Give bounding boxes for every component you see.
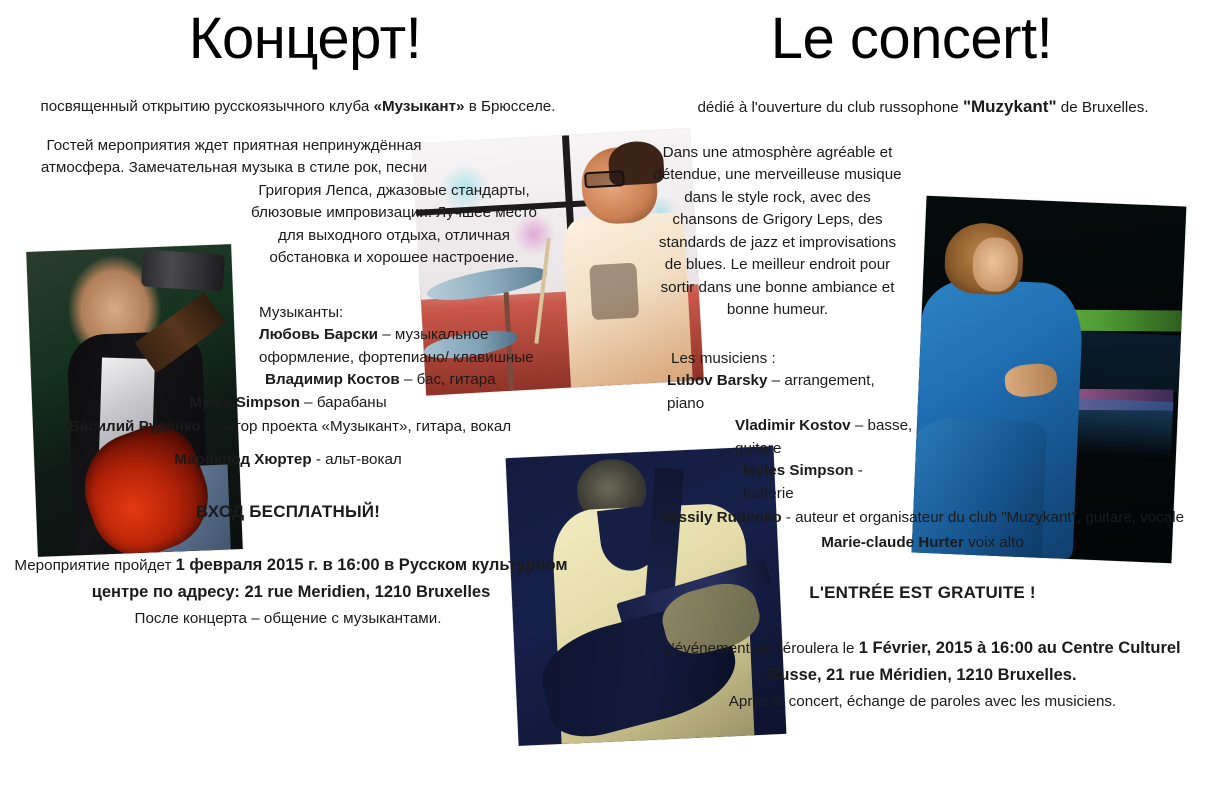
russian-text-column: посвященный открытию русскоязычного клуб…: [8, 96, 588, 630]
ru-intro-paragraph-2: Григория Лепса, джазовые стандарты, блюз…: [244, 180, 544, 270]
ru-subtitle-pre: посвященный открытию русскоязычного клуб…: [41, 98, 374, 115]
ru-intro-text: Гостей мероприятия ждет приятная неприну…: [41, 137, 427, 177]
ru-intro-paragraph: Гостей мероприятия ждет приятная неприну…: [14, 135, 454, 180]
fr-musician-5-name: Marie-claude Hurter: [821, 534, 964, 551]
drummer-shirt-logo-shape: [589, 263, 639, 321]
ru-musician-5-name: Мариклод Хюртер: [174, 451, 311, 468]
fr-musician-3: Myles Simpson - batterie: [665, 460, 915, 505]
ru-event-pre: Мероприятие пройдет: [14, 557, 175, 574]
ru-after-concert: После концерта – общение с музыкантами.: [8, 608, 568, 631]
ru-musician-3-role: – барабаны: [300, 394, 387, 411]
ru-musicians-block: Музыканты: Любовь Барски – музыкальное о…: [253, 302, 563, 392]
fr-musician-5-role: voix alto: [964, 534, 1024, 551]
ru-subtitle: посвященный открытию русскоязычного клуб…: [28, 96, 568, 119]
ru-musician-1-name: Любовь Барски: [259, 326, 378, 343]
fr-event-details: L'événement se déroulera le 1 Février, 2…: [642, 635, 1202, 689]
fr-subtitle: dédié à l'ouverture du club russophone "…: [643, 96, 1203, 120]
fr-musician-3-name: Myles Simpson: [743, 462, 854, 479]
fr-event-pre: L'événement se déroulera le: [663, 640, 858, 657]
ru-musician-1: Любовь Барски – музыкальное оформление, …: [253, 324, 563, 369]
ru-musician-2: Владимир Костов – бас, гитара: [253, 369, 563, 392]
ru-subtitle-post: в Брюсселе.: [465, 98, 556, 115]
fr-musician-5: Marie-claude Hurter voix alto: [650, 532, 1195, 555]
ru-musician-2-name: Владимир Костов: [265, 371, 404, 388]
french-text-column: dédié à l'ouverture du club russophone "…: [640, 96, 1206, 713]
fr-musician-2: Vladimir Kostov – basse, guitare: [665, 415, 915, 460]
title-french: Le concert!: [610, 8, 1213, 70]
fr-musician-4-role: - auteur et organisateur du club "Muzyka…: [782, 509, 1185, 526]
title-russian: Концерт!: [0, 8, 610, 70]
ru-musician-2-role: – бас, гитара: [404, 371, 496, 388]
fr-musician-2-name: Vladimir Kostov: [735, 417, 851, 434]
ru-musician-5: Мариклод Хюртер - альт-вокал: [8, 449, 568, 472]
concert-poster: Концерт! Le concert!: [0, 0, 1213, 798]
ru-musician-5-role: - альт-вокал: [312, 451, 402, 468]
ru-musician-4: Василий Руденко – автор проекта «Музыкан…: [0, 416, 580, 439]
ru-musician-3-name: Myles Simpson: [189, 394, 300, 411]
fr-free-entry: L'ENTRÉE EST GRATUITE !: [650, 582, 1195, 605]
ru-event-details: Мероприятие пройдет 1 февраля 2015 г. в …: [6, 552, 576, 606]
fr-musicians-heading: Les musiciens :: [665, 348, 915, 371]
fr-musician-1-name: Lubov Barsky: [667, 372, 767, 389]
drummer-glasses-shape: [584, 170, 625, 189]
fr-text-wrap-shape-2: [905, 142, 1195, 312]
ru-subtitle-club: «Музыкант»: [374, 98, 465, 115]
ru-free-entry: ВХОД БЕСПЛАТНЫЙ!: [8, 501, 568, 524]
fr-musician-1: Lubov Barsky – arrangement, piano: [665, 370, 915, 415]
fr-subtitle-pre: dédié à l'ouverture du club russophone: [697, 99, 963, 116]
fr-intro-paragraph: Dans une atmosphère agréable et détendue…: [650, 142, 1195, 322]
ru-intro-text-2: Григория Лепса, джазовые стандарты, блюз…: [251, 182, 537, 267]
fr-subtitle-club: "Muzykant": [963, 97, 1057, 116]
ru-musicians-heading: Музыканты:: [253, 302, 563, 325]
ru-musician-4-name: Василий Руденко: [69, 418, 201, 435]
fr-intro-text: Dans une atmosphère agréable et détendue…: [653, 144, 901, 319]
fr-subtitle-post: de Bruxelles.: [1057, 99, 1149, 116]
ru-musician-3: Myles Simpson – барабаны: [8, 392, 568, 415]
fr-musician-4: Vassily Rudenko - auteur et organisateur…: [650, 507, 1195, 530]
ru-musician-4-role: – автор проекта «Музыкант», гитара, вока…: [201, 418, 511, 435]
fr-musicians-block: Les musiciens : Lubov Barsky – arrangeme…: [665, 348, 915, 506]
fr-after-concert: Après le concert, échange de paroles ave…: [650, 691, 1195, 714]
fr-musician-4-name: Vassily Rudenko: [661, 509, 782, 526]
